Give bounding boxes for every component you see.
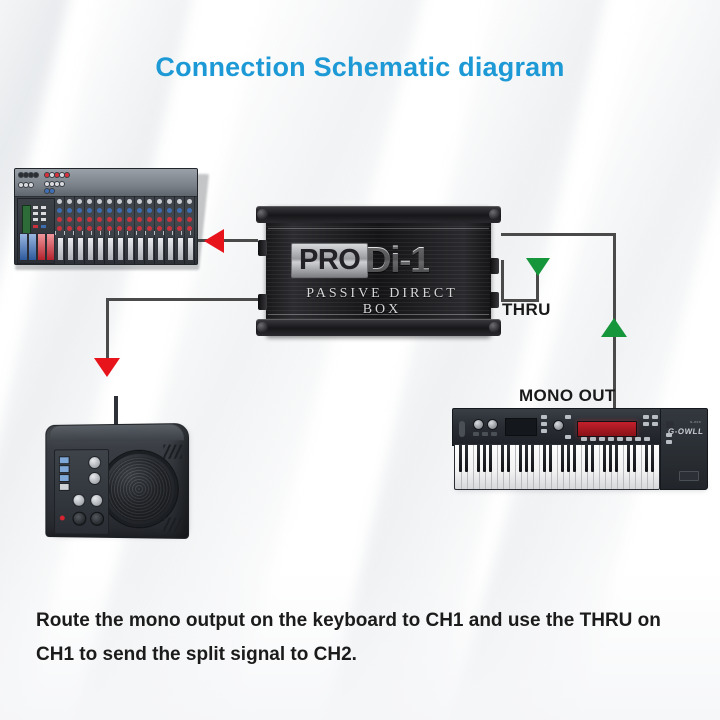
mixer-body [14, 168, 198, 265]
keyboard-pitch-wheel[interactable] [459, 421, 465, 437]
di-box-input-jack-bottom[interactable] [258, 294, 267, 310]
mixer-master-fader-left[interactable] [19, 233, 28, 261]
keyboard-brand-small: s-xxx [690, 419, 701, 424]
speaker-power-led [60, 516, 65, 521]
di-box-subtitle: PASSIVE DIRECT BOX [292, 286, 472, 318]
di-box-thru-jack[interactable] [490, 258, 499, 274]
keyboard-main-display [577, 421, 637, 437]
wire-thru-left [501, 260, 504, 302]
device-di-box[interactable]: PRO Di-1 PASSIVE DIRECT BOX [256, 206, 501, 336]
thru-label: THRU [502, 300, 551, 320]
device-keyboard[interactable]: s-xxx G-OWLL [452, 408, 708, 494]
di-box-input-jack-top[interactable] [258, 240, 267, 256]
keyboard-end-panel: s-xxx G-OWLL [660, 408, 708, 490]
mixer-scale-markings [55, 231, 195, 235]
arrow-red-to-speaker [94, 358, 120, 377]
mixer-aux-fader-1[interactable] [37, 233, 46, 261]
wire-di-to-speaker-vertical [106, 298, 109, 366]
arrow-green-mono-out [601, 318, 627, 337]
keyboard-value-knob[interactable] [487, 419, 498, 430]
device-speaker[interactable] [44, 418, 194, 538]
keyboard-badge [679, 471, 699, 481]
device-mixer[interactable] [14, 168, 204, 268]
di-box-top-rail [256, 206, 501, 223]
mixer-aux-fader-2[interactable] [46, 233, 55, 261]
speaker-volume-knob-2[interactable] [88, 472, 101, 485]
speaker-input-jack-2[interactable] [90, 512, 104, 526]
di-box-logo-pro: PRO [291, 243, 368, 278]
keyboard-brand: G-OWLL [667, 427, 704, 436]
speaker-cabinet [45, 423, 189, 539]
speaker-driver-grill [101, 451, 178, 528]
di-box-logo-model: Di-1 [365, 242, 429, 278]
page-title: Connection Schematic diagram [0, 52, 720, 83]
di-box-logo: PRO Di-1 [291, 240, 429, 280]
keyboard-data-knob[interactable] [473, 419, 484, 430]
speaker-volume-knob-4[interactable] [90, 494, 103, 507]
mono-out-label: MONO OUT [519, 386, 616, 406]
speaker-input-jack-1[interactable] [73, 512, 87, 526]
mixer-top-panel [15, 169, 197, 197]
speaker-volume-knob-1[interactable] [88, 456, 101, 469]
wire-di-to-speaker-horizontal [106, 298, 258, 301]
wire-keyboard-horizontal [501, 233, 616, 236]
di-box-bottom-rail [256, 319, 501, 336]
speaker-top-face [50, 424, 184, 441]
arrow-red-to-mixer [204, 229, 224, 253]
keyboard-secondary-display [505, 418, 537, 436]
speaker-volume-knob-3[interactable] [73, 494, 86, 507]
speaker-cable [114, 396, 118, 426]
keyboard-select-knob[interactable] [553, 420, 564, 431]
arrow-green-thru [526, 258, 550, 276]
keyboard-keys[interactable] [454, 444, 660, 490]
mixer-master-fader-right[interactable] [28, 233, 37, 261]
instruction-caption: Route the mono output on the keyboard to… [36, 604, 686, 672]
schematic-canvas: Connection Schematic diagram THRU MONO O… [0, 0, 720, 720]
di-box-output-jack[interactable] [490, 292, 499, 308]
speaker-control-panel[interactable] [54, 449, 109, 535]
